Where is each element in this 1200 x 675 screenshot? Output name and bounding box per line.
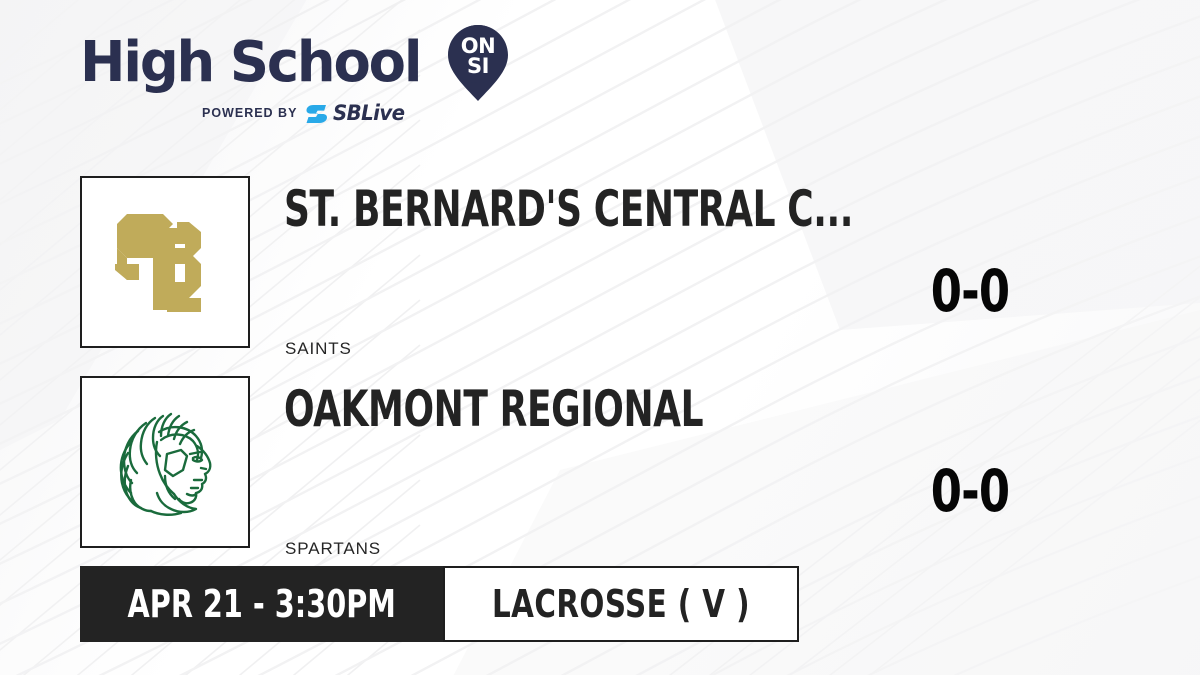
stb-monogram-logo-icon <box>105 202 225 322</box>
home-team-name: OAKMONT REGIONAL <box>284 384 703 434</box>
high-school-wordmark: High School <box>80 35 420 91</box>
brand-wordmark-row: High School ON SI <box>80 32 511 94</box>
game-sport-text: LACROSSE ( V ) <box>492 585 750 623</box>
game-sport-chip: LACROSSE ( V ) <box>443 566 799 642</box>
home-team-record: 0-0 <box>910 462 1030 520</box>
game-datetime-chip: APR 21 - 3:30PM <box>80 566 443 642</box>
away-team-record: 0-0 <box>910 262 1030 320</box>
onsi-pin-icon: ON SI <box>445 23 511 103</box>
spartan-head-logo-icon <box>101 398 229 526</box>
game-datetime-text: APR 21 - 3:30PM <box>128 585 396 623</box>
away-team-name: ST. BERNARD'S CENTRAL C... <box>284 184 853 234</box>
sblive-lockup: SBLive <box>306 103 409 124</box>
sblive-swoosh-icon <box>306 104 329 124</box>
away-team-logo-box[interactable] <box>80 176 250 348</box>
home-team-logo-box[interactable] <box>80 376 250 548</box>
sblive-wordmark: SBLive <box>333 103 404 124</box>
game-info-bar: APR 21 - 3:30PM LACROSSE ( V ) <box>80 566 799 642</box>
home-team-mascot: SPARTANS <box>285 540 381 557</box>
onsi-pin-line2: SI <box>467 54 489 78</box>
powered-by-label: POWERED BY <box>202 107 297 120</box>
away-team-mascot: SAINTS <box>285 340 352 357</box>
powered-by-row: POWERED BY SBLive <box>202 103 511 124</box>
brand-header: High School ON SI POWERED BY SBLive <box>80 32 511 124</box>
matchup-card: High School ON SI POWERED BY SBLive <box>0 0 1200 675</box>
